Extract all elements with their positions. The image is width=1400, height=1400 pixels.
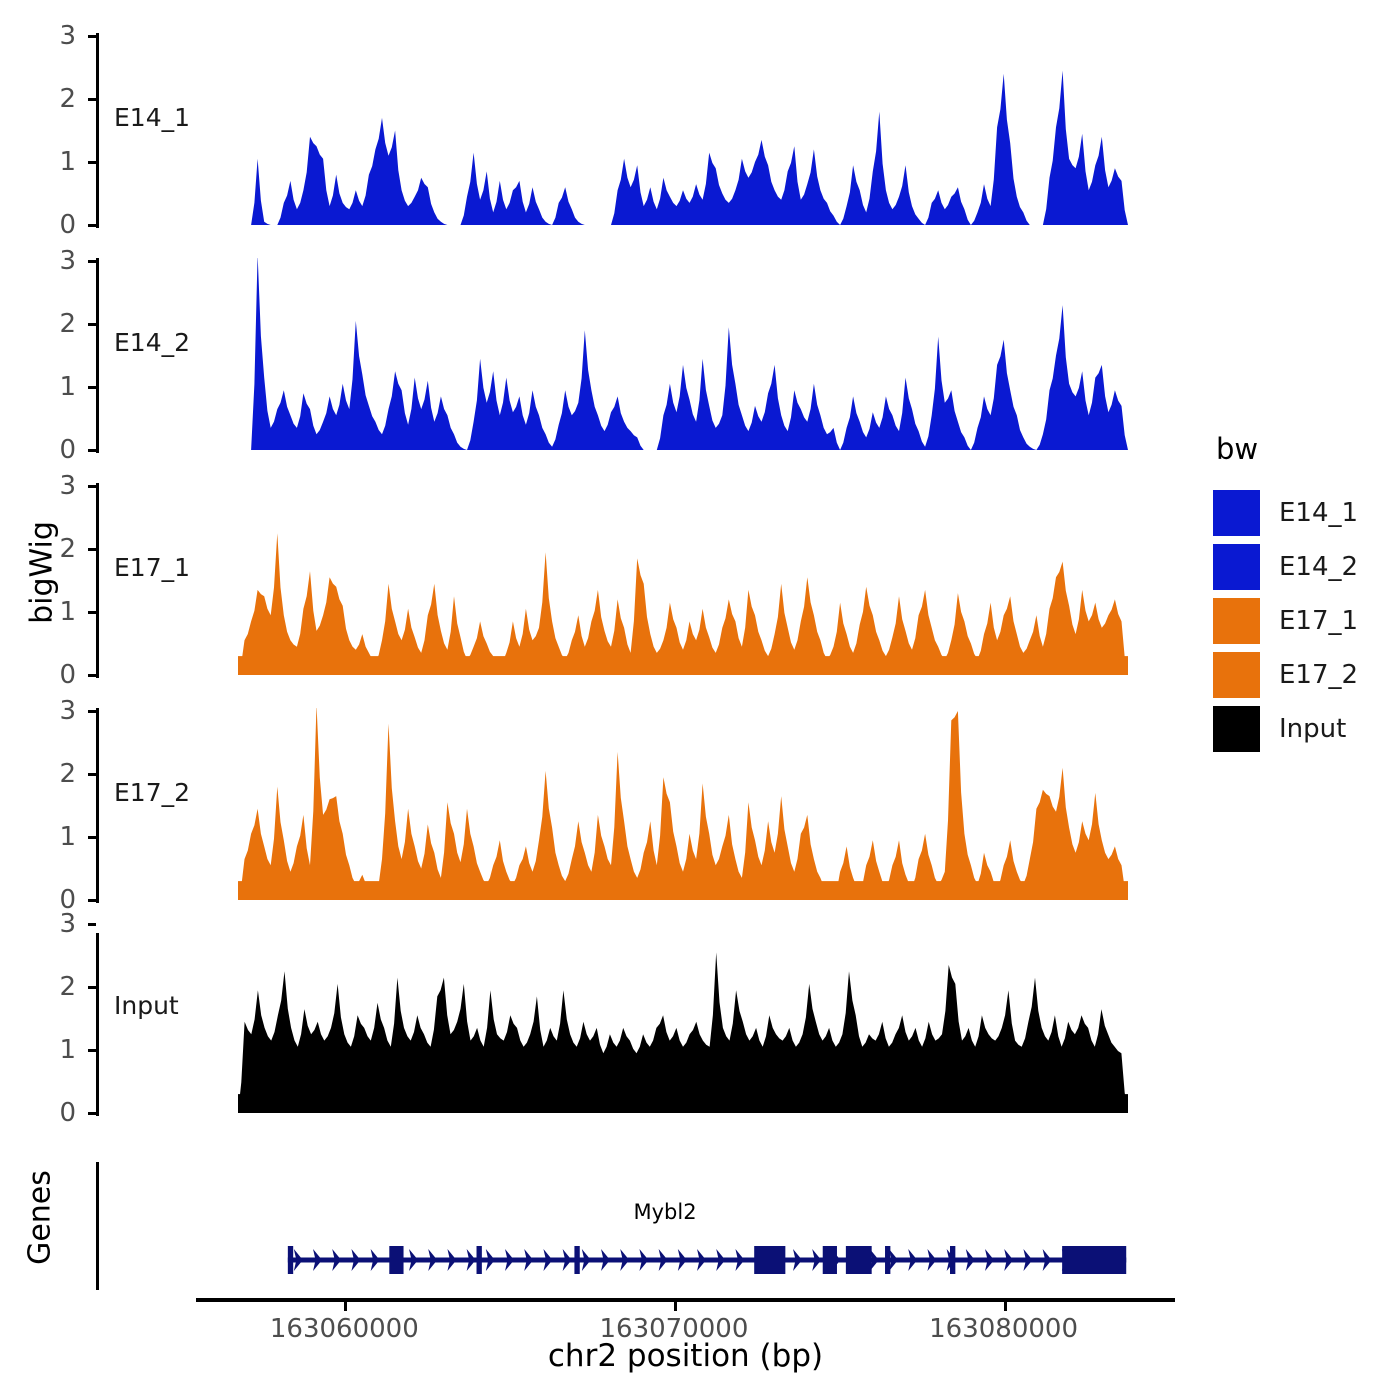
legend-title: bw [1216, 432, 1358, 466]
y-tick-label: 1 [16, 599, 76, 625]
y-tick [88, 485, 96, 488]
legend-entry-label: E17_2 [1279, 660, 1358, 690]
y-tick-label: 2 [16, 311, 76, 337]
y-tick [88, 611, 96, 614]
y-tick [88, 323, 96, 326]
plot-area-input [96, 933, 1175, 1117]
plot-area-e14_2 [96, 258, 1175, 454]
y-tick-label: 1 [16, 1037, 76, 1063]
plot-area-e14_1 [96, 33, 1175, 229]
y-tick-label: 3 [16, 23, 76, 49]
y-tick [88, 923, 96, 926]
legend-color-swatch [1213, 544, 1260, 590]
y-tick-label: 2 [16, 761, 76, 787]
y-tick-label: 2 [16, 974, 76, 1000]
track-panel-e14_2: 0123E14_2 [96, 258, 1175, 454]
coverage-area-e14_2 [96, 258, 1175, 454]
genes-panel: Mybl2 [96, 1162, 1175, 1290]
y-tick-label: 1 [16, 824, 76, 850]
y-tick-label: 1 [16, 374, 76, 400]
legend-color-swatch [1213, 490, 1260, 536]
y-tick [88, 674, 96, 677]
y-tick [88, 224, 96, 227]
track-panel-e14_1: 0123E14_1 [96, 33, 1175, 229]
y-tick-label: 0 [16, 212, 76, 238]
y-tick [88, 449, 96, 452]
y-tick-label: 2 [16, 536, 76, 562]
legend-entry-label: E14_1 [1279, 498, 1358, 528]
y-tick-label: 3 [16, 473, 76, 499]
legend-color-swatch [1213, 706, 1260, 752]
y-tick-label: 0 [16, 1100, 76, 1126]
y-tick-label: 1 [16, 149, 76, 175]
track-panel-input: 0123Input [96, 933, 1175, 1117]
y-axis-title-genes: Genes [23, 1138, 58, 1298]
y-tick [88, 1112, 96, 1115]
legend-color-swatch [1213, 652, 1260, 698]
legend-entry-e14_1[interactable]: E14_1 [1213, 488, 1358, 538]
coverage-area-input [96, 933, 1175, 1117]
y-tick [88, 773, 96, 776]
y-tick [88, 899, 96, 902]
legend-entry-label: E17_1 [1279, 606, 1358, 636]
y-tick [88, 35, 96, 38]
legend-entry-e17_1[interactable]: E17_1 [1213, 596, 1358, 646]
y-tick [88, 548, 96, 551]
legend-color-swatch [1213, 598, 1260, 644]
plot-area-e17_1 [96, 483, 1175, 679]
legend-entry-label: E14_2 [1279, 552, 1358, 582]
y-tick-label: 0 [16, 437, 76, 463]
y-tick [88, 98, 96, 101]
legend-entries: E14_1E14_2E17_1E17_2Input [1213, 488, 1358, 754]
legend-entry-input[interactable]: Input [1213, 704, 1358, 754]
legend-entry-e17_2[interactable]: E17_2 [1213, 650, 1358, 700]
plot-area-e17_2 [96, 708, 1175, 904]
y-tick [88, 836, 96, 839]
x-axis-line [196, 1298, 1175, 1302]
track-panel-e17_2: 0123E17_2 [96, 708, 1175, 904]
x-tick [1004, 1302, 1007, 1311]
y-tick-label: 2 [16, 86, 76, 112]
gene-model-graphic [96, 1162, 1175, 1290]
y-tick [88, 161, 96, 164]
y-tick-label: 3 [16, 698, 76, 724]
y-tick [88, 386, 96, 389]
legend-entry-label: Input [1279, 714, 1346, 744]
coverage-area-e17_1 [96, 483, 1175, 679]
y-tick [88, 710, 96, 713]
coverage-area-e14_1 [96, 33, 1175, 229]
x-tick [344, 1302, 347, 1311]
x-axis-title: chr2 position (bp) [196, 1338, 1175, 1374]
y-tick-label: 0 [16, 662, 76, 688]
y-axis-title-bigwig: bigWig [25, 493, 60, 653]
x-tick [674, 1302, 677, 1311]
y-tick-label: 3 [16, 911, 76, 937]
y-tick [88, 986, 96, 989]
y-tick-label: 3 [16, 248, 76, 274]
coverage-area-e17_2 [96, 708, 1175, 904]
legend: bw E14_1E14_2E17_1E17_2Input [1213, 432, 1358, 758]
gene-model[interactable] [96, 1162, 1175, 1294]
y-tick [88, 1049, 96, 1052]
y-tick [88, 260, 96, 263]
track-panel-e17_1: 0123E17_1 [96, 483, 1175, 679]
legend-entry-e14_2[interactable]: E14_2 [1213, 542, 1358, 592]
